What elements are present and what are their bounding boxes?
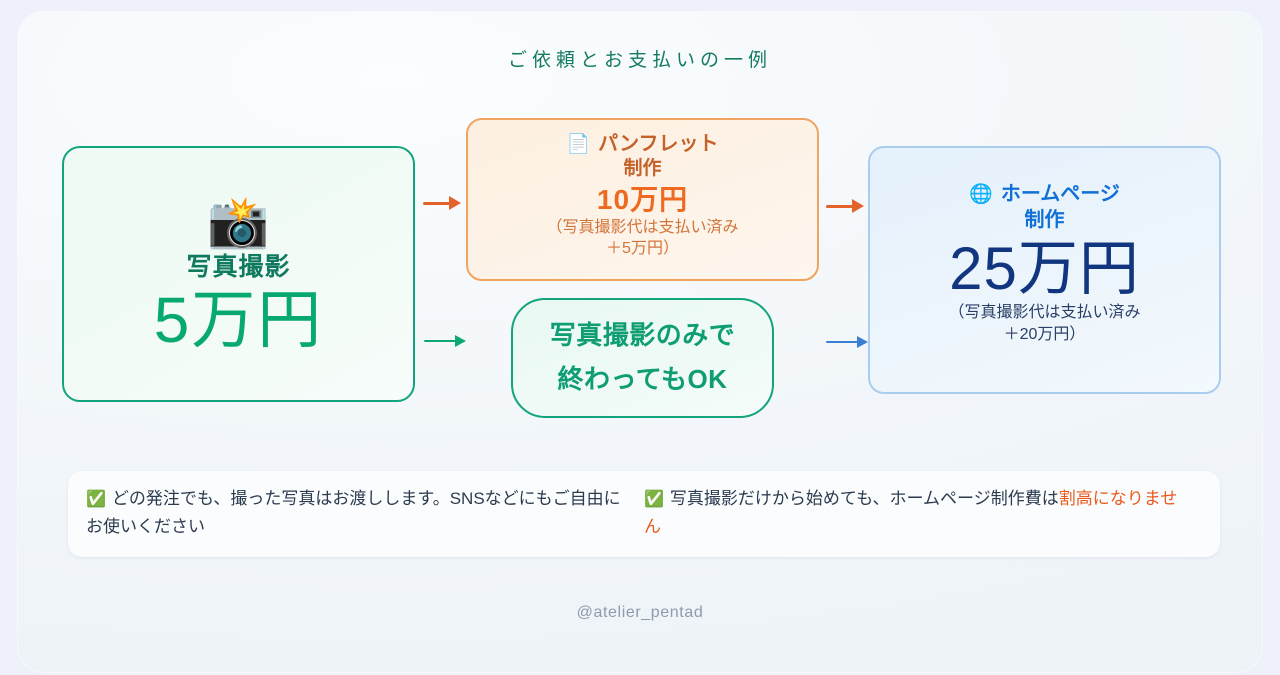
arrow-head (852, 199, 864, 213)
card-pamphlet-subtitle: 制作 (468, 157, 817, 180)
card-pamphlet-note-line2: ＋5万円） (606, 240, 679, 257)
card-homepage-note-line2: ＋20万円） (1004, 326, 1086, 343)
card-homepage-subtitle: 制作 (870, 208, 1219, 232)
card-photo-shooting: 📸 写真撮影 5万円 (62, 146, 415, 402)
infographic-canvas: ご依頼とお支払いの一例 📸 写真撮影 5万円 📄 パンフレット 制作 10万円 … (0, 0, 1280, 675)
footnotes-box: ✅どの発注でも、撮った写真はお渡しします。SNSなどにもご自由にお使いください … (68, 471, 1220, 557)
arrow-photo-to-pamphlet (423, 196, 461, 210)
arrow-shaft (424, 340, 456, 342)
arrow-head (455, 335, 466, 347)
pill-line-2: 終わってもOK (558, 364, 728, 396)
check-mark-icon: ✅ (644, 491, 664, 508)
arrow-photo-to-pill (424, 335, 466, 347)
card-pamphlet-note-line1: （写真撮影代は支払い済み (546, 219, 738, 236)
card-homepage-header: 🌐 ホームページ (870, 182, 1219, 206)
card-pamphlet-title: パンフレット (598, 132, 718, 156)
arrow-shaft (826, 341, 858, 343)
card-pamphlet-price: 10万円 (468, 183, 817, 217)
card-homepage-note: （写真撮影代は支払い済み ＋20万円） (870, 302, 1219, 345)
card-homepage: 🌐 ホームページ 制作 25万円 （写真撮影代は支払い済み ＋20万円） (868, 146, 1221, 394)
card-pamphlet-header: 📄 パンフレット (468, 132, 817, 156)
card-homepage-note-line1: （写真撮影代は支払い済み (948, 304, 1140, 321)
card-pamphlet: 📄 パンフレット 制作 10万円 （写真撮影代は支払い済み ＋5万円） (466, 118, 819, 281)
card-pamphlet-note: （写真撮影代は支払い済み ＋5万円） (468, 218, 817, 260)
camera-with-flash-icon: 📸 (207, 194, 269, 250)
globe-icon: 🌐 (969, 185, 993, 204)
arrow-pamphlet-to-homepage (826, 199, 864, 213)
account-handle: @atelier_pentad (0, 604, 1280, 622)
arrow-shaft (423, 202, 450, 205)
arrow-shaft (826, 205, 853, 208)
arrow-head (449, 196, 461, 210)
footnote-1: ✅どの発注でも、撮った写真はお渡しします。SNSなどにもご自由にお使いください (86, 485, 644, 557)
footnote-2-text: 写真撮影だけから始めても、ホームページ制作費は (670, 489, 1059, 508)
page-title: ご依頼とお支払いの一例 (0, 45, 1280, 72)
check-mark-icon: ✅ (86, 491, 106, 508)
card-photo-price: 5万円 (154, 287, 324, 354)
card-photo-label: 写真撮影 (186, 252, 290, 283)
card-homepage-title: ホームページ (1001, 182, 1120, 206)
footnote-1-text: どの発注でも、撮った写真はお渡しします。SNSなどにもご自由にお使いください (86, 489, 621, 536)
page-facing-up-icon: 📄 (566, 135, 590, 154)
pill-line-1: 写真撮影のみで (550, 320, 736, 352)
arrow-pill-to-homepage (826, 336, 868, 348)
pill-photo-only-ok: 写真撮影のみで 終わってもOK (511, 298, 774, 418)
card-homepage-price: 25万円 (870, 235, 1219, 302)
footnote-2: ✅写真撮影だけから始めても、ホームページ制作費は割高になりません (644, 485, 1202, 557)
arrow-head (857, 336, 868, 348)
